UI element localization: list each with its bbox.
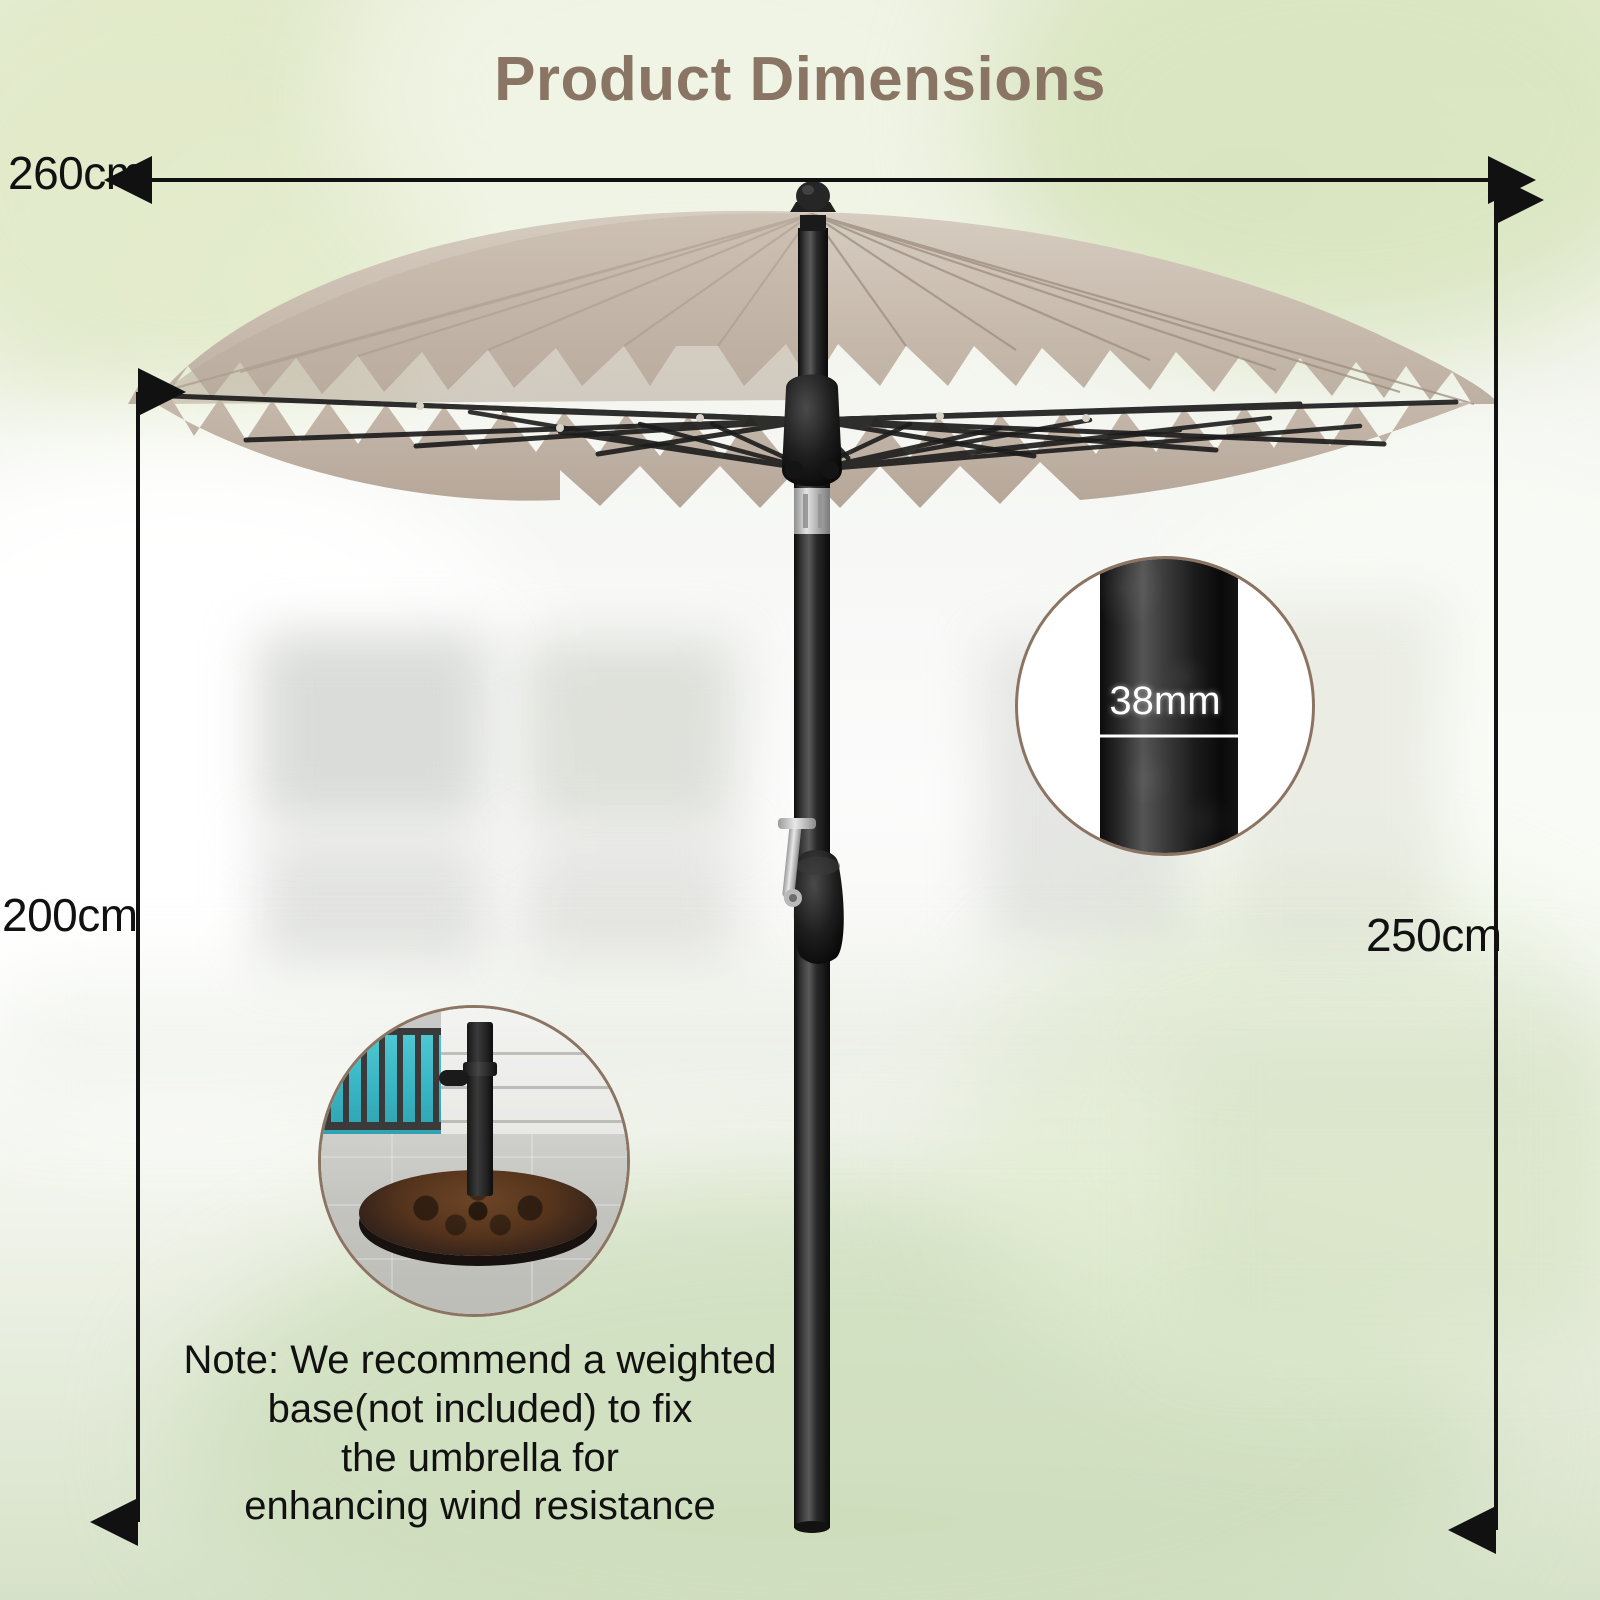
page-title: Product Dimensions xyxy=(0,44,1600,115)
product-dimensions-infographic: Product Dimensions 260cm 200cm 250cm 38m… xyxy=(0,0,1600,1600)
note-text: Note: We recommend a weighted base(not i… xyxy=(120,1336,840,1531)
base-tightening-knob xyxy=(439,1070,469,1086)
overall-height-dimension-label: 250cm xyxy=(1366,908,1502,962)
base-closeup-image xyxy=(321,1008,627,1314)
base-pole xyxy=(467,1022,493,1196)
width-dimension-label: 260cm xyxy=(8,146,144,200)
pole-joint-collar xyxy=(794,488,830,534)
canopy-height-dimension-label: 200cm xyxy=(2,888,138,942)
pole-diameter-callout: 38mm xyxy=(1015,556,1315,856)
weighted-base-callout xyxy=(318,1005,630,1317)
note-line-4: enhancing wind resistance xyxy=(120,1482,840,1531)
note-line-1: Note: We recommend a weighted xyxy=(120,1336,840,1385)
note-line-2: base(not included) to fix xyxy=(120,1385,840,1434)
pole-diameter-arrow xyxy=(1086,727,1252,745)
pole-diameter-label: 38mm xyxy=(1018,679,1312,724)
note-line-3: the umbrella for xyxy=(120,1434,840,1483)
crank-housing xyxy=(794,850,844,964)
